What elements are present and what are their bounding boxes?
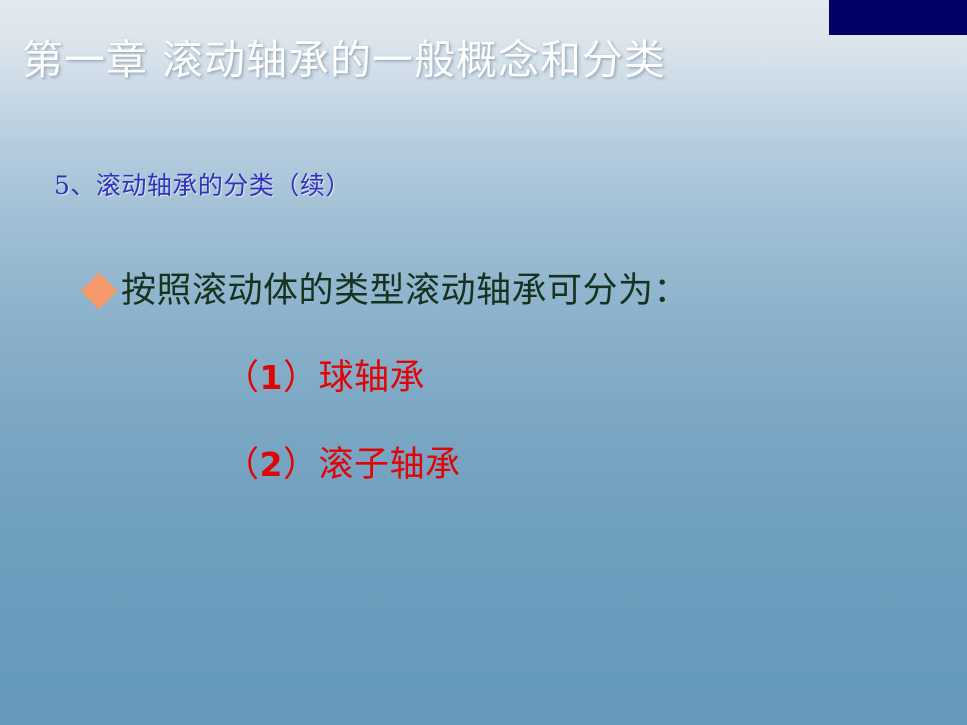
list-item-label: 球轴承 [319,358,426,398]
list-item-close-paren: ） [283,445,319,485]
page-title: 第一章 滚动轴承的一般概念和分类 [22,37,922,84]
bullet-line-label: 按照滚动体的类型滚动轴承可分为： [121,272,689,311]
list-item-open-paren: （ [224,445,260,485]
bullet-line: 按照滚动体的类型滚动轴承可分为： [86,272,689,311]
accent-block-top-right [829,0,967,35]
list-item: （2）滚子轴承 [224,446,461,485]
list-item-close-paren: ） [283,358,319,398]
section-subheading: 5、滚动轴承的分类（续） [54,166,351,202]
list-item-number: 1 [260,358,283,397]
list-item-open-paren: （ [224,358,260,398]
list-item: （1）球轴承 [224,359,425,398]
diamond-bullet-icon [81,273,118,310]
list-item-label: 滚子轴承 [319,445,461,485]
list-item-number: 2 [260,445,283,484]
slide-canvas: 第一章 滚动轴承的一般概念和分类 5、滚动轴承的分类（续） 按照滚动体的类型滚动… [0,0,967,725]
